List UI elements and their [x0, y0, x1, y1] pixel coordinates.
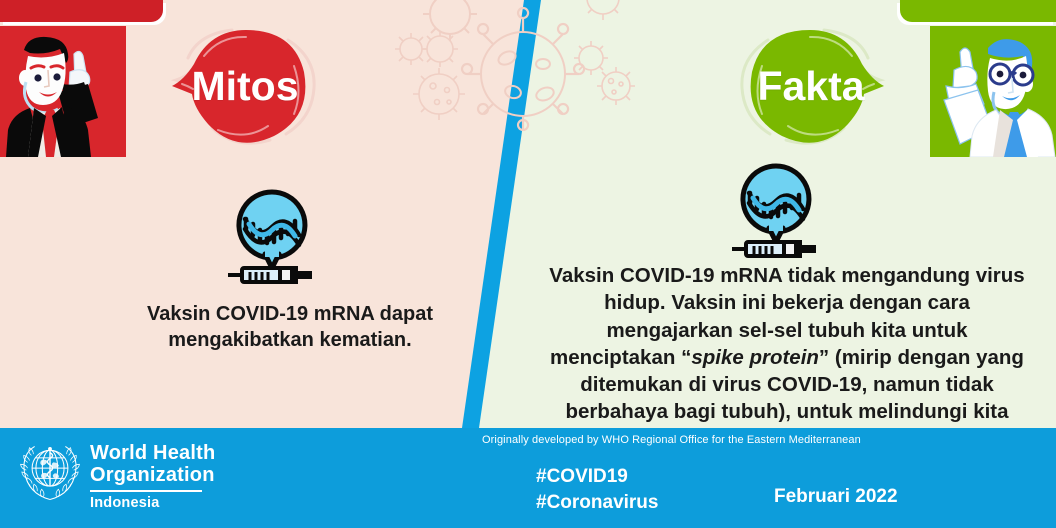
- hashtags-block: #COVID19 #Coronavirus: [536, 464, 658, 515]
- myth-body-text: Vaksin COVID-19 mRNA dapat mengakibatkan…: [110, 302, 470, 353]
- fact-bubble-label: Fakta: [757, 66, 864, 107]
- who-myth-vs-fact-poster: Mitos Fakta: [0, 0, 1056, 528]
- top-green-bar: [900, 0, 1056, 22]
- fact-text-italic-term: spike protein: [691, 346, 819, 369]
- hashtag-coronavirus: #Coronavirus: [536, 490, 658, 516]
- who-footer-bar: World Health Organization Indonesia Orig…: [0, 428, 1056, 528]
- who-logo-line-2: Organization: [90, 465, 215, 487]
- publication-date: Februari 2022: [774, 486, 898, 508]
- attribution-text: Originally developed by WHO Regional Off…: [482, 434, 861, 446]
- hashtag-covid19: #COVID19: [536, 464, 658, 490]
- myth-mrna-vaccine-icon: [222, 188, 322, 291]
- myth-speech-bubble: Mitos: [170, 24, 320, 148]
- fact-speech-bubble: Fakta: [736, 24, 886, 148]
- fact-body-text: Vaksin COVID-19 mRNA tidak mengandung vi…: [548, 262, 1026, 453]
- myth-bubble-label: Mitos: [191, 66, 298, 107]
- doctor-pointing-up-illustration: [930, 26, 1056, 157]
- who-logo: World Health Organization Indonesia: [18, 440, 215, 511]
- myth-character-panel: [0, 26, 126, 157]
- fact-mrna-vaccine-icon: [726, 162, 826, 265]
- who-logo-line-1: World Health: [90, 443, 215, 465]
- who-logo-divider: [90, 490, 202, 492]
- who-logo-country: Indonesia: [90, 495, 215, 511]
- man-pointing-up-illustration: [0, 26, 126, 157]
- fact-character-panel: [930, 26, 1056, 157]
- top-red-bar: [0, 0, 163, 22]
- who-emblem-icon: [18, 440, 82, 504]
